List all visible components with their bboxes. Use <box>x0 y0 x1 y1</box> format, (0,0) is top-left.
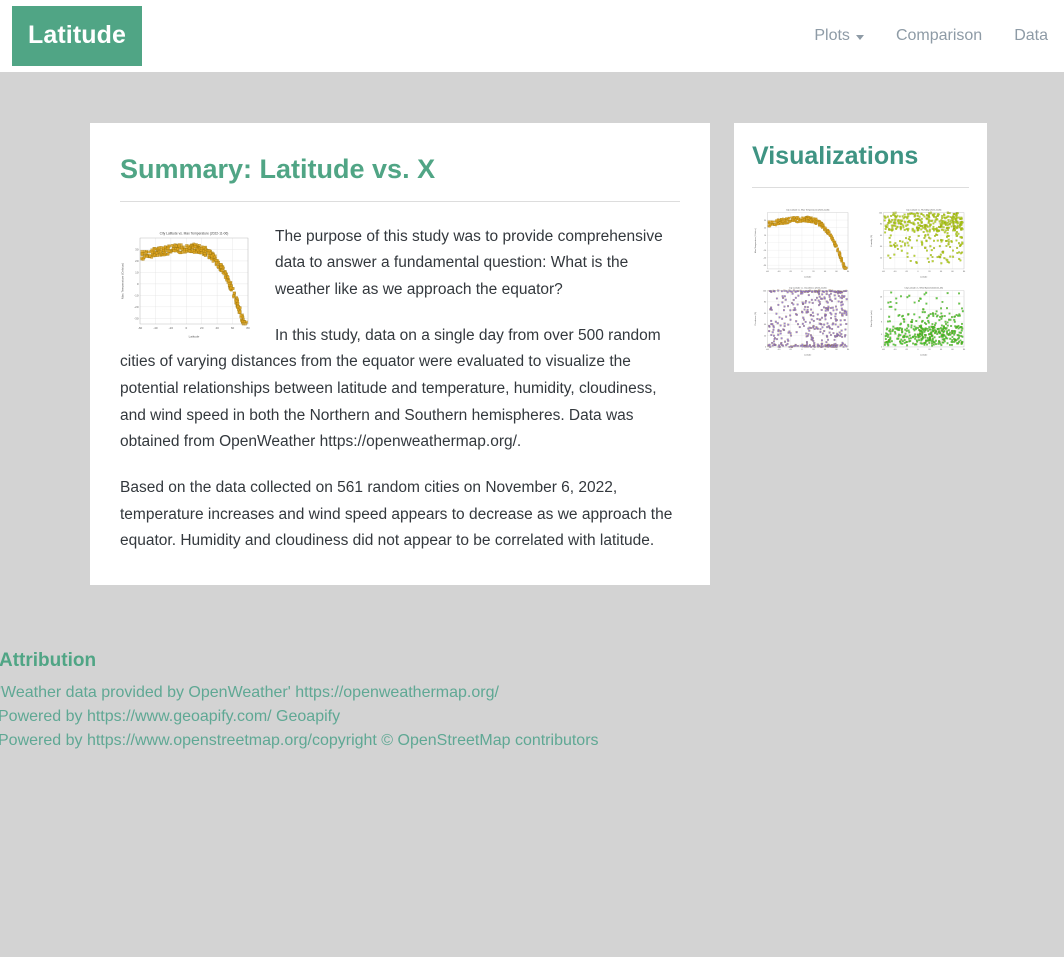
svg-text:-40: -40 <box>153 326 158 330</box>
thumbnail-latitude-vs-humidity[interactable]: -60-40-2002040608020406080100City Latitu… <box>868 206 970 278</box>
page-title: Summary: Latitude vs. X <box>120 153 680 187</box>
svg-text:Wind Speed (m/s): Wind Speed (m/s) <box>870 310 872 327</box>
attribution-line-geoapify[interactable]: Powered by https://www.geoapify.com/ Geo… <box>0 705 1064 729</box>
svg-text:Max Temperature (Celsius): Max Temperature (Celsius) <box>121 263 125 299</box>
attribution-line-openweather[interactable]: 'Weather data provided by OpenWeather' h… <box>0 681 1064 705</box>
svg-text:20: 20 <box>135 259 139 263</box>
scatter-plot-svg: -60-40-20020406080-30-20-100102030City L… <box>752 206 854 278</box>
nav-item-data[interactable]: Data <box>998 19 1064 53</box>
svg-text:40: 40 <box>215 326 219 330</box>
inline-chart-latitude-vs-max-temperature[interactable]: -60-40-20020406080-30-20-100102030City L… <box>120 228 255 338</box>
svg-text:-30: -30 <box>134 316 139 320</box>
content-row: Summary: Latitude vs. X -60-40-200204060… <box>0 123 1064 585</box>
svg-text:60: 60 <box>231 326 235 330</box>
navbar: Latitude Plots Comparison Data <box>0 0 1064 72</box>
scatter-plot-svg: -60-40-20020406080020406080100City Latit… <box>752 284 854 356</box>
svg-text:Cloudiness (%): Cloudiness (%) <box>755 312 757 326</box>
nav-item-plots-label: Plots <box>814 27 850 45</box>
attribution-line-openstreetmap[interactable]: Powered by https://www.openstreetmap.org… <box>0 729 1064 753</box>
svg-text:10: 10 <box>135 270 139 274</box>
nav-item-comparison[interactable]: Comparison <box>880 19 998 53</box>
thumbnail-latitude-vs-max-temperature[interactable]: -60-40-20020406080-30-20-100102030City L… <box>752 206 854 278</box>
svg-text:-10: -10 <box>134 293 139 297</box>
thumbnail-grid: -60-40-20020406080-30-20-100102030City L… <box>752 206 969 356</box>
svg-text:30: 30 <box>135 247 139 251</box>
summary-card: Summary: Latitude vs. X -60-40-200204060… <box>90 123 710 585</box>
scatter-plot-svg: -60-40-200204060800481216City Latitude v… <box>868 284 970 356</box>
svg-text:20: 20 <box>200 326 204 330</box>
title-divider <box>120 201 680 202</box>
attribution-footer: Attribution 'Weather data provided by Op… <box>0 648 1064 754</box>
brand-logo[interactable]: Latitude <box>12 6 142 66</box>
side-column: Visualizations -60-40-20020406080-30-20-… <box>734 123 987 372</box>
visualizations-title: Visualizations <box>752 141 969 171</box>
main-column: Summary: Latitude vs. X -60-40-200204060… <box>90 123 710 585</box>
summary-paragraph-3: Based on the data collected on 561 rando… <box>120 475 680 555</box>
svg-text:-60: -60 <box>138 326 143 330</box>
chevron-down-icon <box>856 35 864 40</box>
nav-item-plots[interactable]: Plots <box>798 19 880 53</box>
scatter-plot-svg: -60-40-2002040608020406080100City Latitu… <box>868 206 970 278</box>
svg-text:-20: -20 <box>169 326 174 330</box>
page-body: Summary: Latitude vs. X -60-40-200204060… <box>0 72 1064 754</box>
visualizations-divider <box>752 187 969 188</box>
svg-text:Latitude: Latitude <box>189 334 200 338</box>
attribution-title: Attribution <box>0 648 1064 675</box>
thumbnail-latitude-vs-wind-speed[interactable]: -60-40-200204060800481216City Latitude v… <box>868 284 970 356</box>
scatter-plot-svg: -60-40-20020406080-30-20-100102030City L… <box>120 228 255 338</box>
nav-links: Plots Comparison Data <box>798 19 1064 53</box>
visualizations-panel: Visualizations -60-40-20020406080-30-20-… <box>734 123 987 372</box>
svg-text:City Latitude vs. Max Temperat: City Latitude vs. Max Temperature (2022-… <box>160 231 229 235</box>
thumbnail-latitude-vs-cloudiness[interactable]: -60-40-20020406080020406080100City Latit… <box>752 284 854 356</box>
svg-text:-20: -20 <box>134 305 139 309</box>
svg-text:80: 80 <box>246 326 250 330</box>
summary-paragraph-2: In this study, data on a single day from… <box>120 323 680 456</box>
